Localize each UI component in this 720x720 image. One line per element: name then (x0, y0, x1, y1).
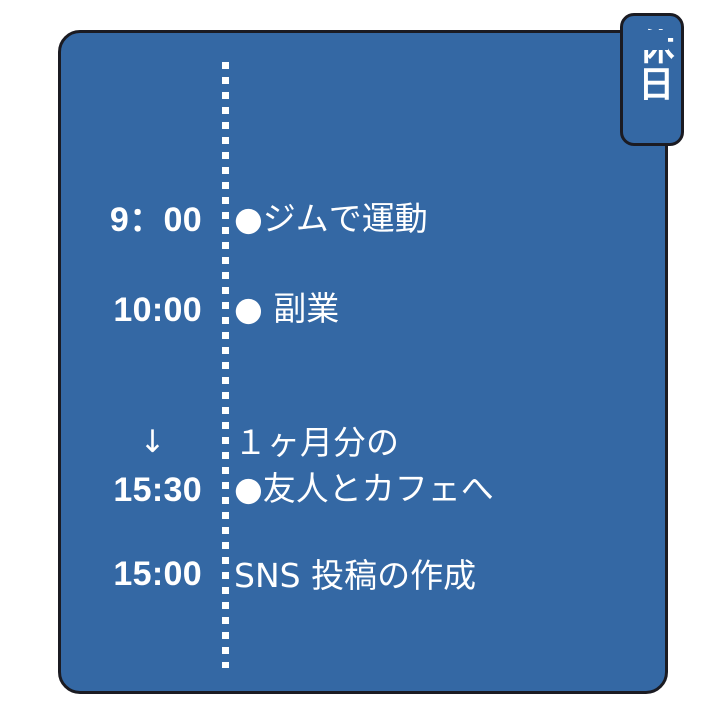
schedule-row-tasks: ●友人とカフェへ (210, 378, 668, 601)
time-start: 15:30 (58, 468, 202, 513)
schedule-rows: 9：00 ●ジムで運動 10:00 ↓ 15:00 ● 副業 １ヶ月分の SNS… (58, 30, 668, 694)
time-start: 10:00 (58, 288, 202, 333)
schedule-card-canvas: 休日 9：00 ●ジムで運動 10:00 ↓ 15:00 ● 副業 １ヶ月分の … (0, 0, 720, 720)
task-line: ● 副業 (234, 287, 668, 332)
schedule-row-time: 15:30 (58, 378, 210, 602)
schedule-row: 15:30 ●友人とカフェへ (58, 378, 668, 602)
task-line: ●友人とカフェへ (234, 467, 668, 512)
